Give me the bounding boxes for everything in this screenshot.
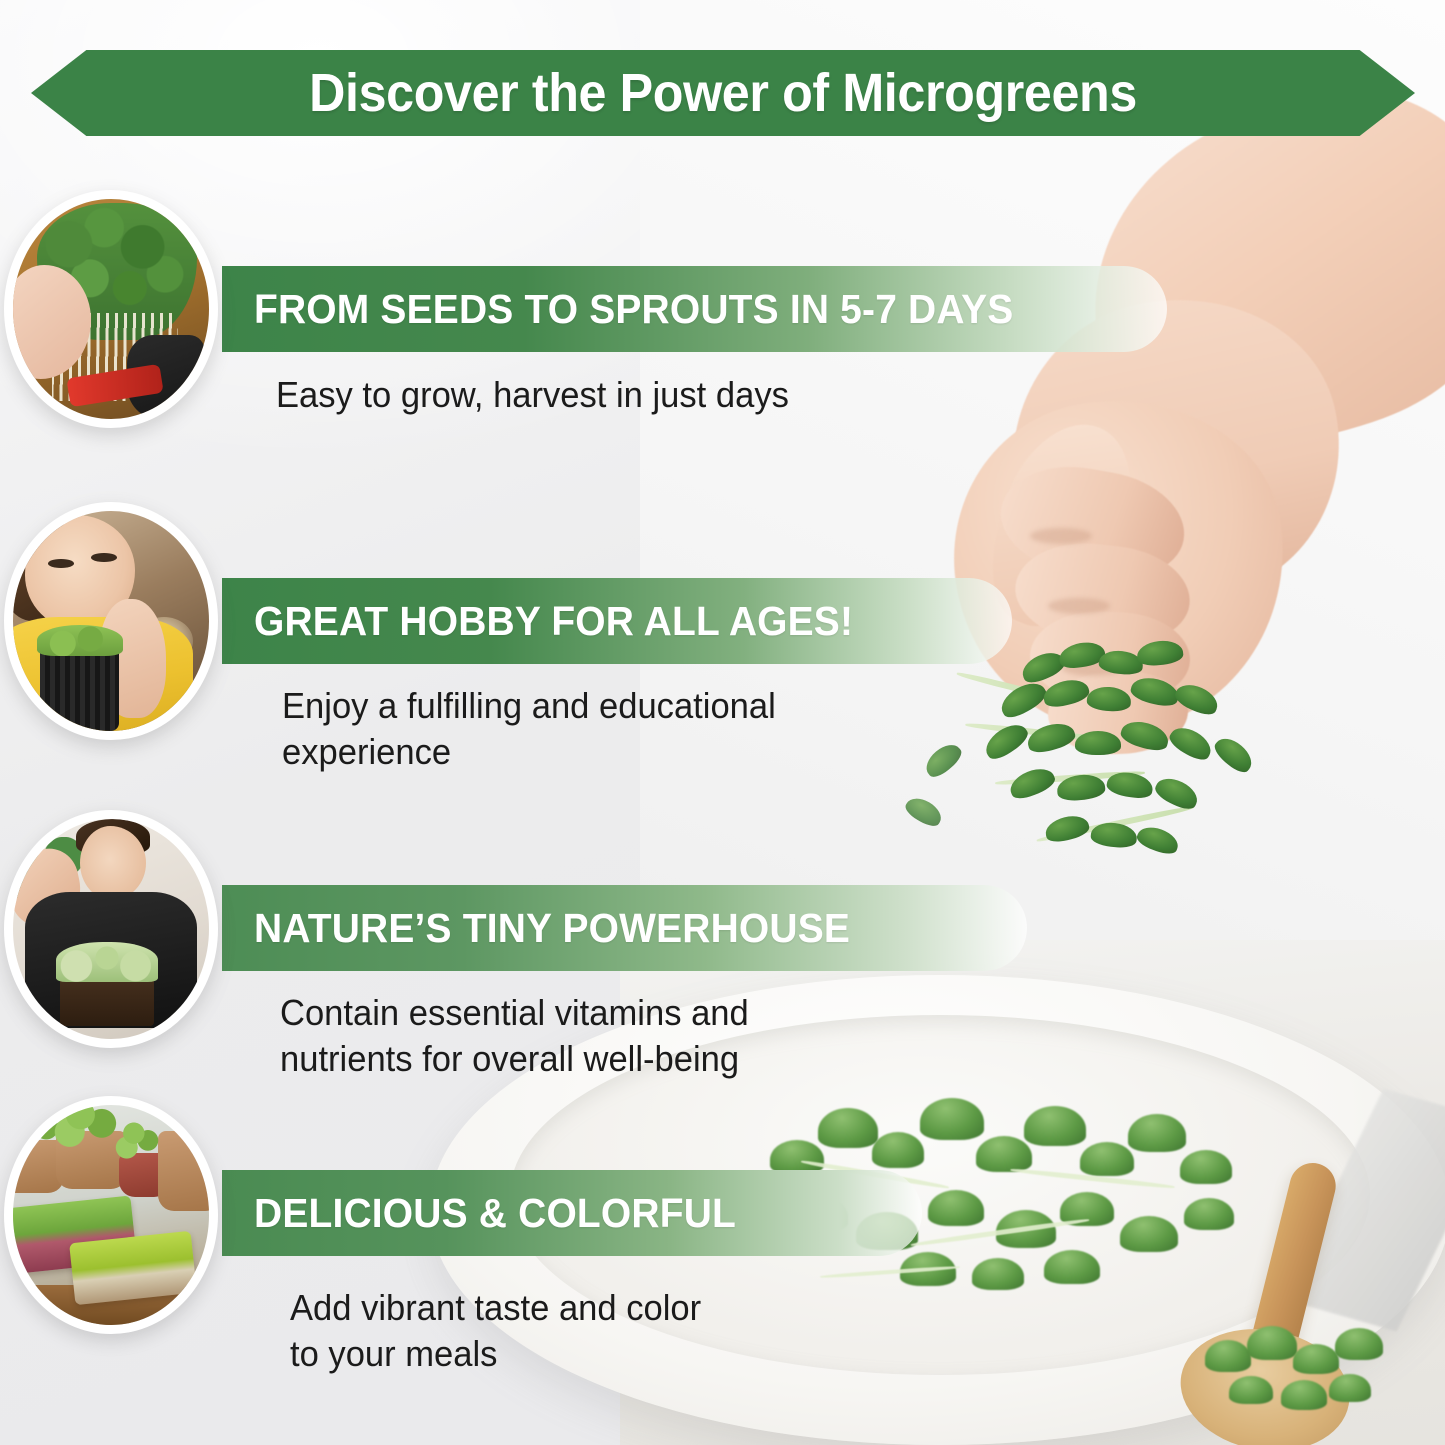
spoon-microgreens [1195, 1320, 1415, 1430]
hand-held-sprout-bunch [975, 625, 1315, 875]
feature-title-1: FROM SEEDS TO SPROUTS IN 5-7 DAYS [254, 286, 1013, 333]
feature-title-2: GREAT HOBBY FOR ALL AGES! [254, 598, 853, 645]
feature-thumbnail-2 [4, 502, 218, 740]
page-title: Discover the Power of Microgreens [79, 50, 1366, 136]
feature-title-bar-4: DELICIOUS & COLORFUL [222, 1170, 922, 1256]
feature-title-bar-1: FROM SEEDS TO SPROUTS IN 5-7 DAYS [222, 266, 1167, 352]
feature-title-3: NATURE’S TINY POWERHOUSE [254, 905, 850, 952]
feature-description-4: Add vibrant taste and color to your meal… [290, 1285, 703, 1376]
feature-thumbnail-3 [4, 810, 218, 1048]
feature-description-1: Easy to grow, harvest in just days [276, 372, 910, 418]
feature-description-3: Contain essential vitamins and nutrients… [280, 990, 856, 1081]
microgreens-infographic: Discover the Power of Microgreens FROM S… [0, 0, 1445, 1445]
man-flexing-with-microgreens-image [13, 819, 209, 1039]
feature-title-4: DELICIOUS & COLORFUL [254, 1190, 736, 1237]
feature-description-2: Enjoy a fulfilling and educational exper… [282, 683, 877, 774]
feature-title-bar-3: NATURE’S TINY POWERHOUSE [222, 885, 1027, 971]
girl-holding-microgreens-pot-image [13, 511, 209, 731]
hands-harvesting-microgreens-image [13, 199, 209, 419]
feature-thumbnail-1 [4, 190, 218, 428]
feature-title-bar-2: GREAT HOBBY FOR ALL AGES! [222, 578, 1012, 664]
trays-of-colorful-microgreens-image [13, 1105, 209, 1325]
feature-thumbnail-4 [4, 1096, 218, 1334]
